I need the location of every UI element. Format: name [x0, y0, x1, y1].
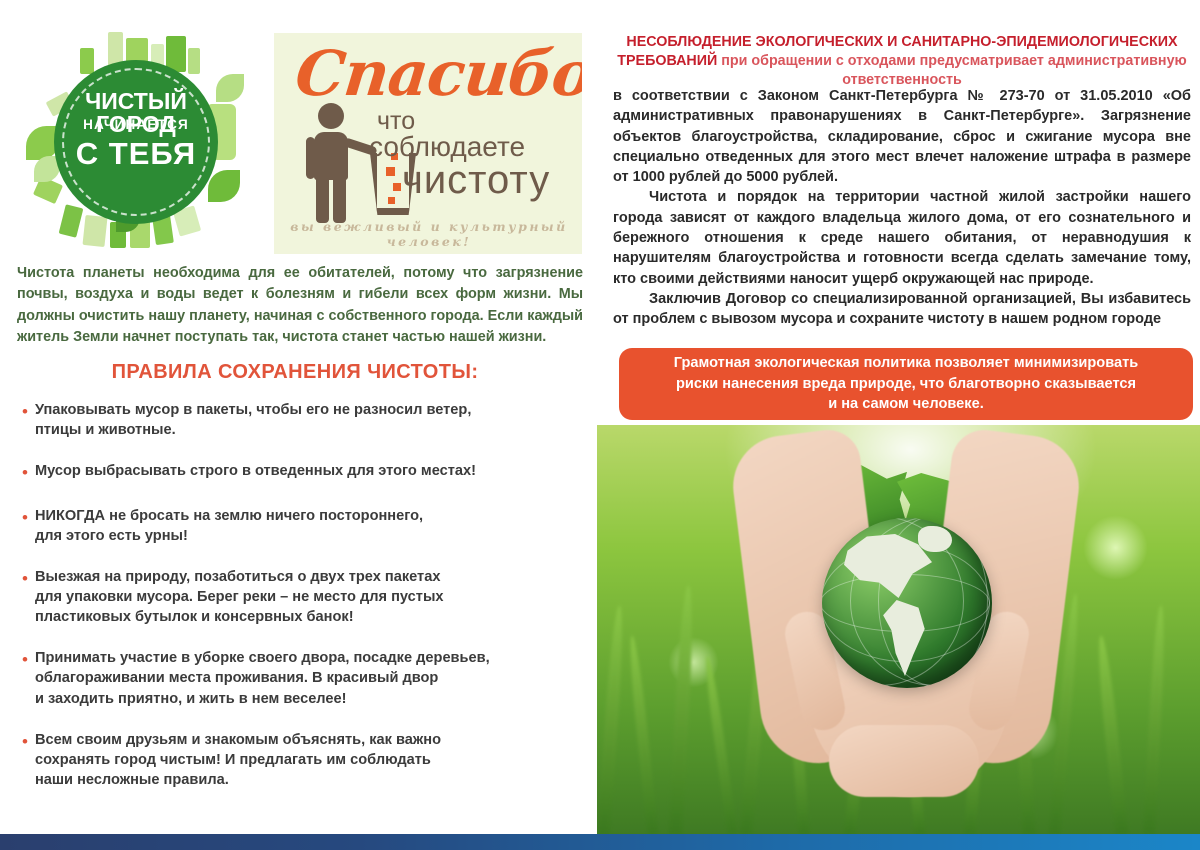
law-body: в соответствии с Законом Санкт-Петербург… [613, 86, 1191, 330]
thumb [829, 725, 979, 797]
list-item: • Принимать участие в уборке своего двор… [22, 648, 588, 708]
list-item-text: Выезжая на природу, позаботиться о двух … [35, 567, 444, 627]
list-item-text: Принимать участие в уборке своего двора,… [35, 648, 490, 708]
list-item: • Всем своим друзьям и знакомым объяснят… [22, 730, 588, 790]
pictogram-leg-right [333, 177, 346, 223]
pictogram-body [314, 132, 348, 180]
bullet-icon: • [22, 400, 28, 440]
list-item-text: Всем своим друзьям и знакомым объяснять,… [35, 730, 441, 790]
clean-city-logo: ЧИСТЫЙ ГОРОД НАЧИНАЕТСЯ С ТЕБЯ [20, 30, 252, 252]
bottom-accent-bar [0, 834, 1200, 850]
bullet-icon: • [22, 567, 28, 627]
poster-word-spasibo: Спасибо, [292, 37, 582, 110]
logo-line-2: НАЧИНАЕТСЯ [54, 118, 218, 132]
thanks-poster: Спасибо, что соблюдаете чистоту вы вежли… [274, 33, 582, 254]
list-item: • Мусор выбрасывать строго в отведенных … [22, 461, 588, 484]
poster-subtitle: вы вежливый и культурный человек! [284, 219, 574, 249]
bullet-icon: • [22, 730, 28, 790]
building-icon [82, 215, 107, 247]
law-paragraph-3: Заключив Договор со специализированной о… [613, 289, 1191, 330]
grass-blade [597, 605, 626, 834]
eco-policy-callout: Грамотная экологическая политика позволя… [619, 348, 1193, 420]
intro-paragraph: Чистота планеты необходима для ее обитат… [17, 263, 583, 348]
list-item-text: Мусор выбрасывать строго в отведенных дл… [35, 461, 476, 484]
leaf-icon [208, 170, 240, 202]
law-heading: НЕСОБЛЮДЕНИЕ ЭКОЛОГИЧЕСКИХ И САНИТАРНО-Э… [611, 33, 1193, 90]
continent-greenland [918, 526, 952, 552]
list-item-text: Упаковывать мусор в пакеты, чтобы его не… [35, 400, 471, 440]
list-item: • Выезжая на природу, позаботиться о дву… [22, 567, 588, 627]
building-icon [188, 48, 200, 74]
law-paragraph-1: в соответствии с Законом Санкт-Петербург… [613, 86, 1191, 187]
pictogram-leg-left [316, 177, 329, 223]
trash-piece-icon [393, 183, 401, 191]
poster-page: ЧИСТЫЙ ГОРОД НАЧИНАЕТСЯ С ТЕБЯ Спасибо, … [0, 0, 1200, 850]
trash-piece-icon [386, 167, 395, 176]
globe-in-hands [822, 518, 992, 688]
list-item-text: НИКОГДА не бросать на землю ничего посто… [35, 506, 423, 546]
list-item: • Упаковывать мусор в пакеты, чтобы его … [22, 400, 588, 440]
grass-blade [1143, 605, 1167, 834]
grass-blade [668, 585, 695, 834]
trash-piece-icon [388, 197, 395, 204]
bullet-icon: • [22, 506, 28, 546]
grass-blade [703, 655, 738, 834]
grass-blade [1095, 635, 1129, 834]
pictogram-head [318, 103, 344, 129]
grass-blade [627, 635, 659, 834]
leaf-icon [216, 74, 244, 102]
logo-line-3: С ТЕБЯ [54, 138, 218, 169]
bullet-icon: • [22, 461, 28, 484]
building-icon [80, 48, 94, 74]
rules-list: • Упаковывать мусор в пакеты, чтобы его … [22, 400, 588, 811]
law-heading-rest: при обращении с отходами предусматривает… [717, 53, 1186, 88]
left-column: ЧИСТЫЙ ГОРОД НАЧИНАЕТСЯ С ТЕБЯ Спасибо, … [0, 0, 597, 850]
rules-title: ПРАВИЛА СОХРАНЕНИЯ ЧИСТОТЫ: [0, 361, 590, 384]
pictogram-arm-left [306, 137, 315, 179]
hands-globe-photo [597, 425, 1200, 834]
bullet-icon: • [22, 648, 28, 708]
list-item: • НИКОГДА не бросать на землю ничего пос… [22, 506, 588, 546]
person-pictogram-icon [304, 103, 364, 223]
poster-word-chistotu: чистоту [402, 158, 550, 203]
building-icon [59, 204, 84, 237]
law-paragraph-2: Чистота и порядок на территории частной … [613, 187, 1191, 288]
